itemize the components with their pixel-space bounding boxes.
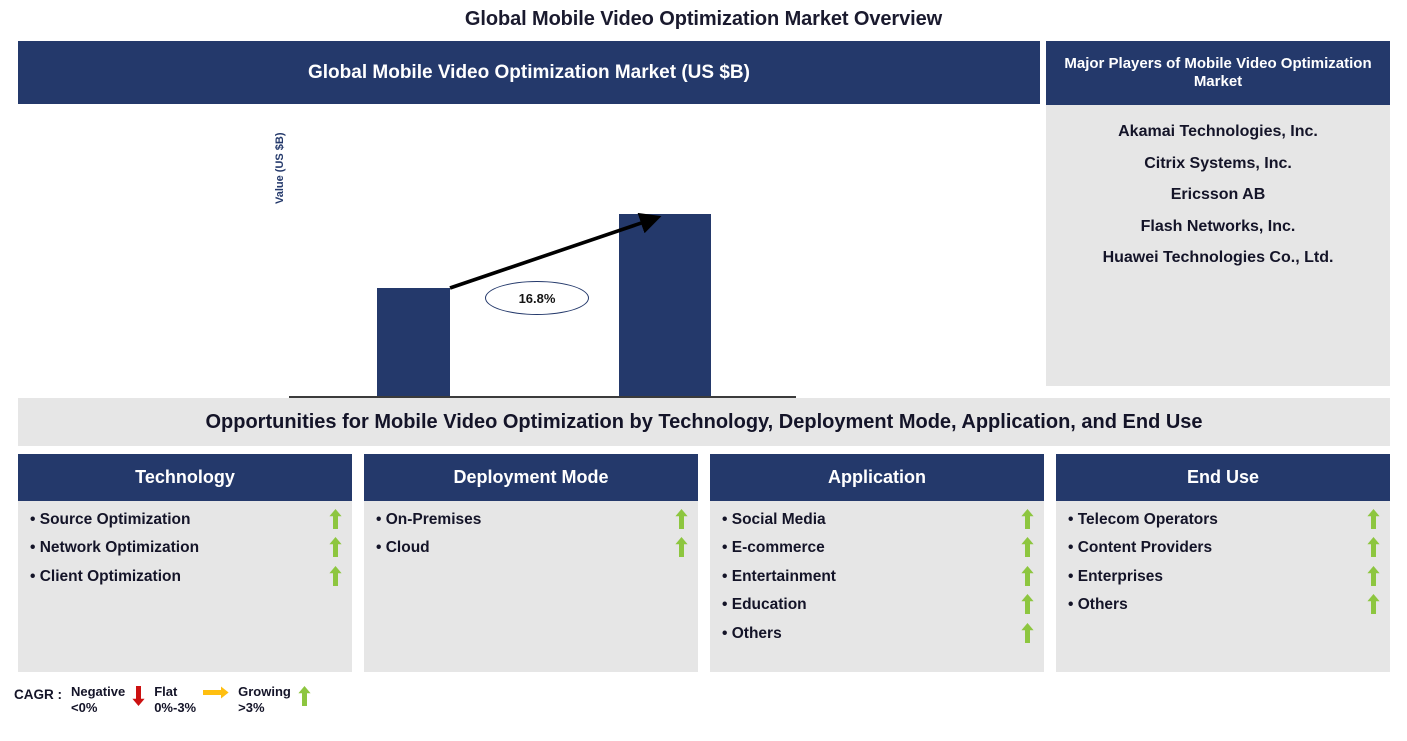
major-players-list: Akamai Technologies, Inc. Citrix Systems… (1046, 105, 1390, 386)
arrow-up-green-icon (298, 684, 311, 706)
cagr-legend-entry-negative: Negative <0% (71, 684, 145, 717)
list-item-label: Content Providers (1068, 537, 1212, 559)
list-item-label: Social Media (722, 509, 826, 531)
list-item: Client Optimization (30, 566, 342, 588)
list-item: E-commerce (722, 537, 1034, 559)
list-item-label: Education (722, 594, 807, 616)
list-item: Entertainment (722, 566, 1034, 588)
arrow-up-green-icon (1367, 594, 1380, 614)
cagr-legend-entry-range: <0% (71, 700, 125, 716)
category-columns: Technology Source Optimization Network O… (18, 454, 1390, 672)
chart-body: Value (US $B) 16.8% 2025 (18, 104, 1040, 389)
market-chart-panel: Global Mobile Video Optimization Market … (18, 41, 1040, 389)
list-item: Cloud (376, 537, 688, 559)
list-item: Telecom Operators (1068, 509, 1380, 531)
arrow-up-green-icon (675, 509, 688, 529)
arrow-up-green-icon (1367, 537, 1380, 557)
list-item-label: Network Optimization (30, 537, 199, 559)
cagr-legend-entry-name: Growing (238, 684, 291, 699)
list-item: Huawei Technologies Co., Ltd. (1054, 249, 1382, 267)
cagr-legend-entry-name: Flat (154, 684, 177, 699)
category-header: Technology (18, 454, 352, 501)
list-item: Social Media (722, 509, 1034, 531)
list-item-label: Source Optimization (30, 509, 190, 531)
cagr-callout-bubble: 16.8% (485, 281, 589, 315)
arrow-up-green-icon (329, 537, 342, 557)
arrow-up-green-icon (1021, 509, 1034, 529)
list-item: Citrix Systems, Inc. (1054, 155, 1382, 173)
list-item: Network Optimization (30, 537, 342, 559)
infographic-page: Global Mobile Video Optimization Market … (0, 0, 1407, 741)
list-item: Source Optimization (30, 509, 342, 531)
chart-plot-area: 16.8% 2025 2031 (18, 104, 1040, 389)
list-item: Flash Networks, Inc. (1054, 218, 1382, 236)
list-item: On-Premises (376, 509, 688, 531)
cagr-legend: CAGR : Negative <0% Flat 0%-3% Growing >… (14, 684, 311, 717)
arrow-up-green-icon (329, 509, 342, 529)
list-item-label: E-commerce (722, 537, 825, 559)
list-item: Ericsson AB (1054, 186, 1382, 204)
arrow-up-green-icon (329, 566, 342, 586)
list-item: Akamai Technologies, Inc. (1054, 123, 1382, 141)
arrow-up-green-icon (1367, 566, 1380, 586)
category-header: Deployment Mode (364, 454, 698, 501)
list-item: Content Providers (1068, 537, 1380, 559)
list-item-label: On-Premises (376, 509, 481, 531)
category-item-list: On-Premises Cloud (364, 501, 698, 672)
arrow-up-green-icon (1021, 594, 1034, 614)
list-item-label: Others (722, 623, 782, 645)
arrow-up-green-icon (675, 537, 688, 557)
cagr-legend-entry-growing: Growing >3% (238, 684, 311, 717)
opportunities-banner: Opportunities for Mobile Video Optimizat… (18, 398, 1390, 446)
category-item-list: Source Optimization Network Optimization… (18, 501, 352, 672)
list-item-label: Enterprises (1068, 566, 1163, 588)
cagr-legend-entry-text: Flat 0%-3% (154, 684, 196, 717)
category-column-technology: Technology Source Optimization Network O… (18, 454, 352, 672)
list-item: Education (722, 594, 1034, 616)
cagr-legend-label: CAGR : (14, 684, 62, 702)
list-item-label: Others (1068, 594, 1128, 616)
cagr-legend-entry-text: Growing >3% (238, 684, 291, 717)
category-column-deployment-mode: Deployment Mode On-Premises Cloud (364, 454, 698, 672)
category-column-application: Application Social Media E-commerce Ente… (710, 454, 1044, 672)
category-item-list: Telecom Operators Content Providers Ente… (1056, 501, 1390, 672)
category-column-end-use: End Use Telecom Operators Content Provid… (1056, 454, 1390, 672)
list-item-label: Cloud (376, 537, 430, 559)
list-item-label: Client Optimization (30, 566, 181, 588)
list-item: Enterprises (1068, 566, 1380, 588)
category-header: End Use (1056, 454, 1390, 501)
cagr-legend-entry-flat: Flat 0%-3% (154, 684, 229, 717)
major-players-panel: Major Players of Mobile Video Optimizati… (1046, 41, 1390, 386)
cagr-growth-arrow (18, 104, 1040, 389)
list-item: Others (722, 623, 1034, 645)
arrow-down-red-icon (132, 684, 145, 706)
cagr-callout-value: 16.8% (519, 291, 556, 306)
chart-panel-header: Global Mobile Video Optimization Market … (18, 41, 1040, 104)
list-item-label: Entertainment (722, 566, 836, 588)
category-header: Application (710, 454, 1044, 501)
arrow-up-green-icon (1021, 566, 1034, 586)
arrow-up-green-icon (1021, 623, 1034, 643)
category-item-list: Social Media E-commerce Entertainment Ed… (710, 501, 1044, 672)
arrow-up-green-icon (1367, 509, 1380, 529)
cagr-legend-entry-text: Negative <0% (71, 684, 125, 717)
arrow-up-green-icon (1021, 537, 1034, 557)
list-item: Others (1068, 594, 1380, 616)
cagr-legend-entry-range: >3% (238, 700, 291, 716)
major-players-header: Major Players of Mobile Video Optimizati… (1046, 41, 1390, 105)
page-title: Global Mobile Video Optimization Market … (0, 8, 1407, 31)
arrow-right-yellow-icon (203, 684, 229, 699)
cagr-legend-entry-name: Negative (71, 684, 125, 699)
cagr-legend-entry-range: 0%-3% (154, 700, 196, 716)
list-item-label: Telecom Operators (1068, 509, 1218, 531)
